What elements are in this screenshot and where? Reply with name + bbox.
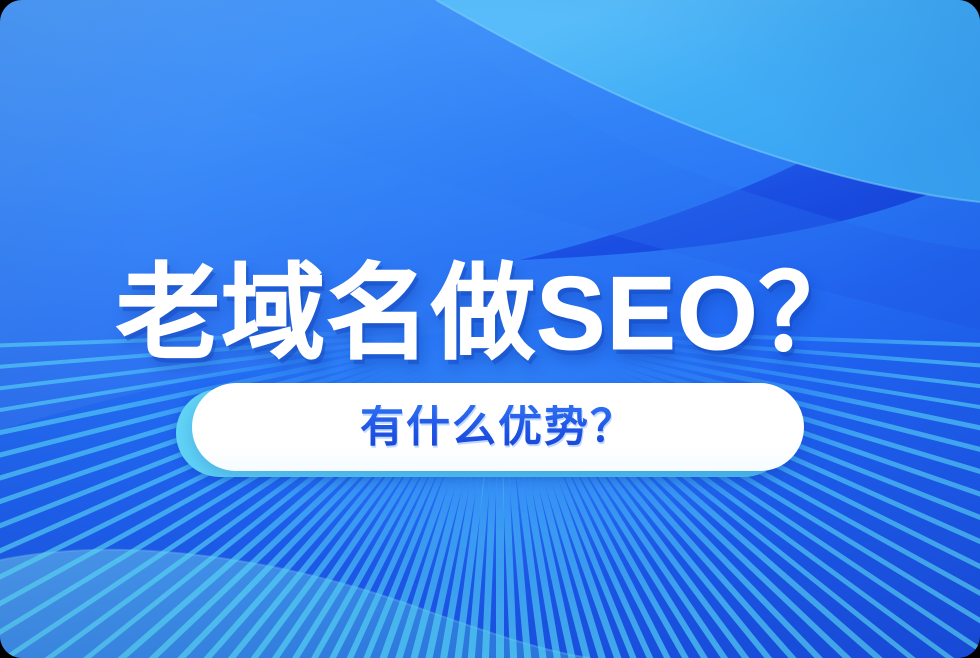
subtitle-text: 有什么优势？ — [360, 405, 636, 449]
poster-canvas: 老域名做SEO？ 有什么优势？ — [0, 0, 980, 658]
poster-content: 老域名做SEO？ 有什么优势？ — [0, 0, 980, 658]
headline-title: 老域名做SEO？ — [0, 256, 980, 372]
subtitle-pill-surface: 有什么优势？ — [192, 383, 804, 471]
subtitle-pill-zone: 有什么优势？ — [0, 383, 980, 483]
subtitle-pill: 有什么优势？ — [176, 383, 804, 483]
